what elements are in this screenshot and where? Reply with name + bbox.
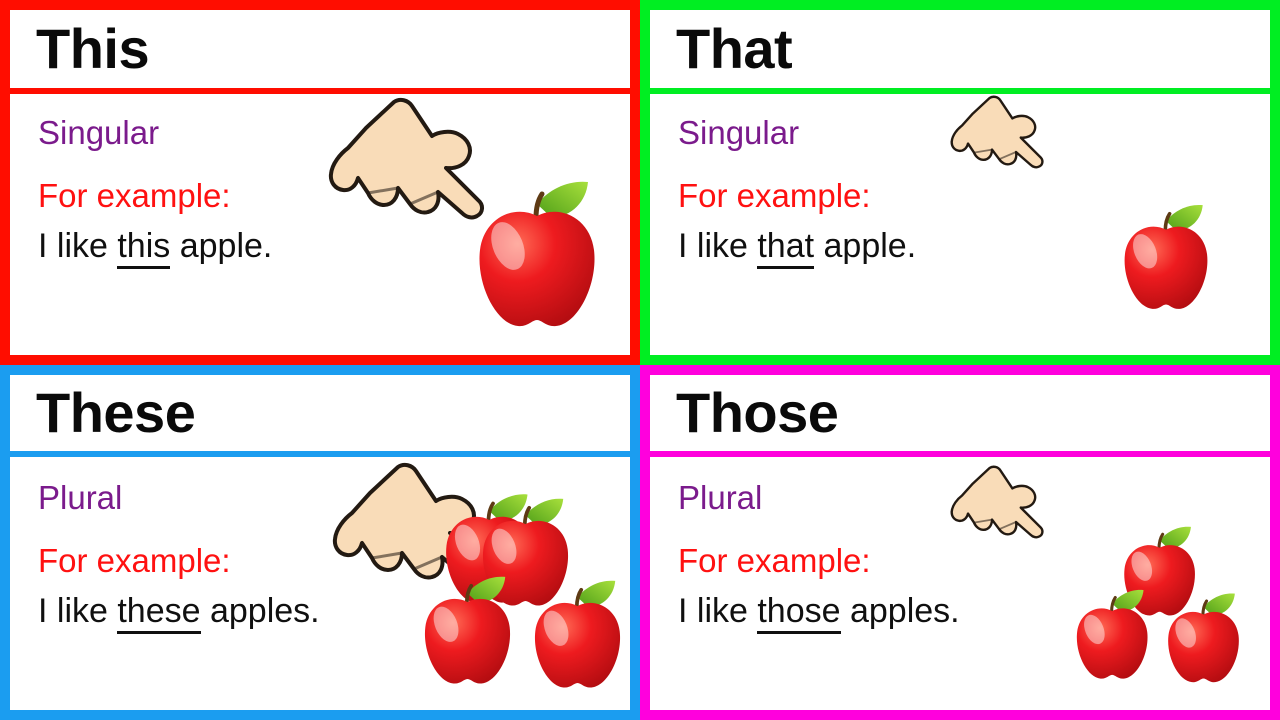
card-these-number-label: Plural [38, 481, 630, 514]
card-those-title: Those [676, 385, 838, 441]
card-those-inner: Those [650, 375, 1270, 710]
card-this-sentence-prefix: I like [38, 227, 117, 265]
card-that-inner: That [650, 10, 1270, 355]
pointing-hand-icon [332, 457, 507, 607]
card-that: That [640, 0, 1280, 365]
card-that-body: Singular For example: I like that apple. [650, 94, 1270, 355]
card-those-title-bar: Those [650, 375, 1270, 451]
card-that-example-label: For example: [678, 179, 1270, 212]
card-these-example-label: For example: [38, 544, 630, 577]
card-that-sentence-keyword: that [757, 227, 814, 269]
card-these-inner: These [10, 375, 630, 710]
card-those-number-label: Plural [678, 481, 1270, 514]
card-this-example-label: For example: [38, 179, 630, 212]
card-these-sentence-keyword: these [117, 592, 200, 634]
card-this-title-bar: This [10, 10, 630, 88]
card-those: Those [640, 365, 1280, 720]
card-that-sentence-prefix: I like [678, 227, 757, 265]
card-this-title: This [36, 21, 149, 77]
card-those-sentence-keyword: those [757, 592, 840, 634]
card-this: This [0, 0, 640, 365]
card-those-body: Plural For example: I like those apples. [650, 457, 1270, 710]
card-this-sentence-suffix: apple. [170, 227, 272, 265]
card-that-sentence: I like that apple. [678, 226, 1270, 266]
demonstratives-board: This [0, 0, 1280, 720]
card-those-sentence-prefix: I like [678, 592, 757, 630]
card-that-number-label: Singular [678, 116, 1270, 149]
card-these: These [0, 365, 640, 720]
card-that-sentence-suffix: apple. [814, 227, 916, 265]
card-this-number-label: Singular [38, 116, 630, 149]
card-those-sentence-suffix: apples. [841, 592, 960, 630]
card-these-title: These [36, 385, 195, 441]
card-this-inner: This [10, 10, 630, 355]
card-that-title: That [676, 21, 792, 77]
card-these-sentence-suffix: apples. [201, 592, 320, 630]
card-these-title-bar: These [10, 375, 630, 451]
card-those-sentence: I like those apples. [678, 591, 1270, 631]
card-this-body: Singular For example: I like this apple. [10, 94, 630, 355]
card-these-body: Plural For example: I like these apples. [10, 457, 630, 710]
card-that-title-bar: That [650, 10, 1270, 88]
card-this-sentence: I like this apple. [38, 226, 630, 266]
card-these-sentence-prefix: I like [38, 592, 117, 630]
card-this-sentence-keyword: this [117, 227, 170, 269]
card-those-example-label: For example: [678, 544, 1270, 577]
card-these-sentence: I like these apples. [38, 591, 630, 631]
